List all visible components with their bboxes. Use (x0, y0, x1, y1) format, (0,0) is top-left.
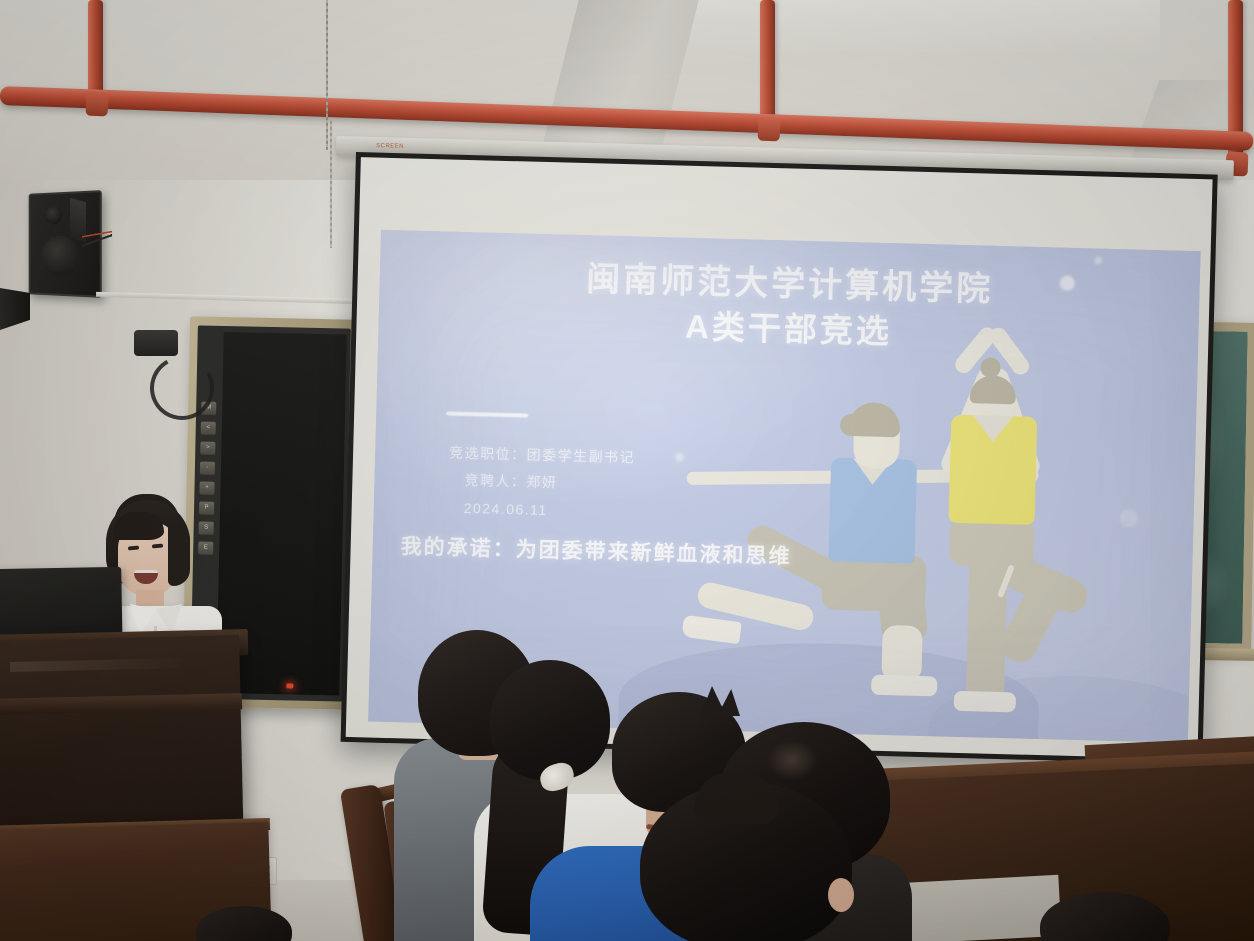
audience-member (196, 906, 292, 941)
display-button[interactable]: < (201, 422, 216, 435)
sprinkler-pipe-vertical (760, 0, 775, 132)
pipe-joint (758, 117, 781, 142)
audience-head (196, 906, 292, 941)
screen-pull-chain[interactable] (330, 118, 332, 248)
audience-head (490, 660, 610, 780)
display-button[interactable]: + (199, 482, 214, 495)
speaker-woofer-icon (41, 236, 79, 277)
audience-member (640, 782, 860, 941)
housing-label: SCREEN (376, 143, 404, 150)
audience-member (1040, 892, 1170, 941)
classroom-presentation-photo: M < > - + P S E SCREEN (0, 0, 1254, 941)
audience-ear (828, 878, 854, 912)
presenter-bangs (114, 512, 164, 540)
display-button[interactable]: - (200, 462, 215, 475)
screen-pull-chain[interactable] (326, 0, 328, 150)
display-power-led (286, 683, 293, 688)
audience-hair-part (766, 740, 818, 780)
presenter-side-hair (168, 526, 190, 586)
audience-head (1040, 892, 1170, 941)
speaker-tweeter-icon (45, 206, 62, 224)
pipe-joint (86, 92, 109, 117)
camera-device (134, 330, 178, 356)
display-button[interactable]: > (200, 442, 215, 455)
speaker-wires (82, 222, 112, 248)
